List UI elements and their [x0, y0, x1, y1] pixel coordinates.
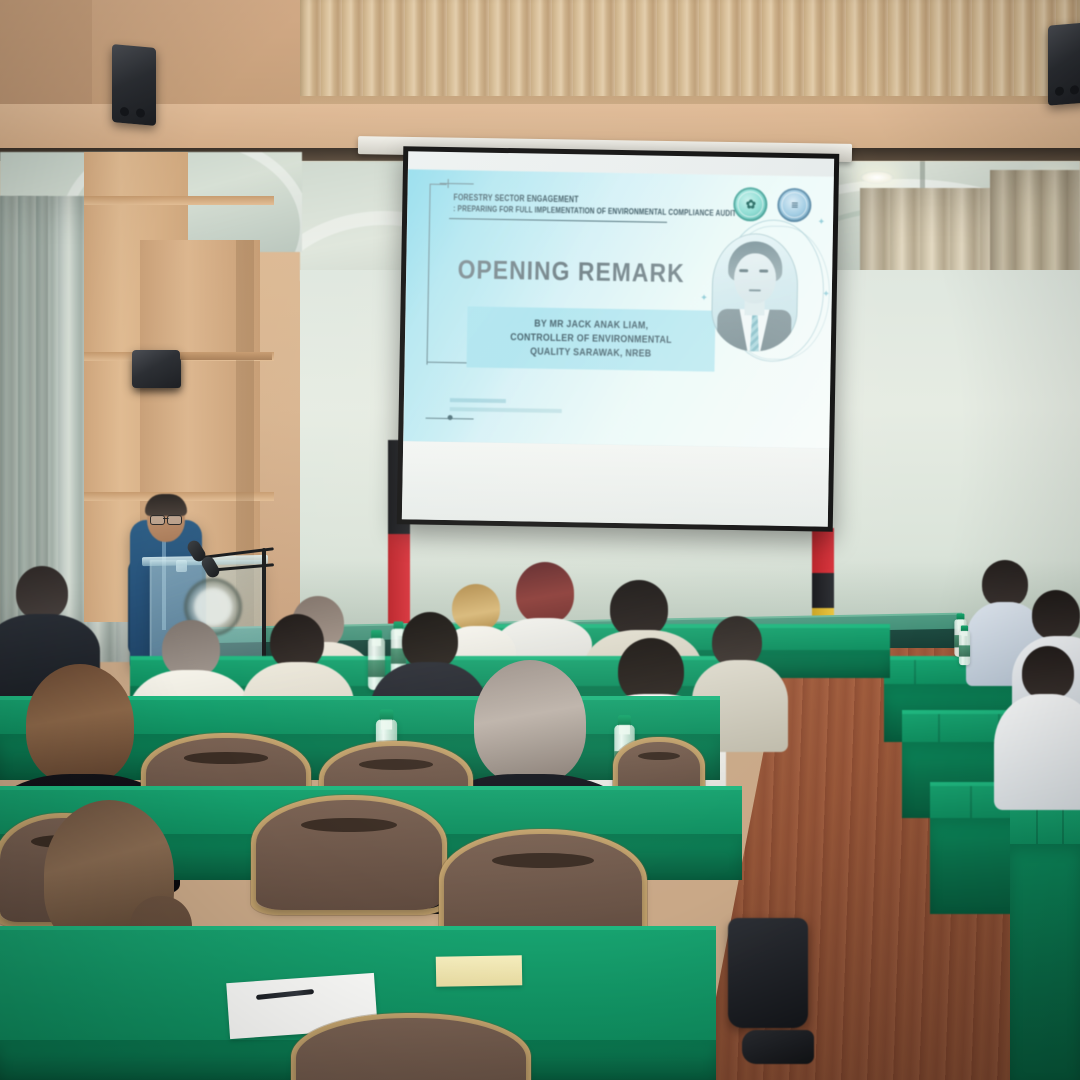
- yellow-notepad[interactable]: [436, 955, 523, 986]
- presentation-slide: FORESTRY SECTOR ENGAGEMENT : PREPARING F…: [403, 169, 834, 448]
- nreb-logo: ✿: [733, 187, 768, 222]
- pilaster-trim: [84, 196, 274, 205]
- bracket-tick-icon: [448, 179, 449, 188]
- slide-title: OPENING REMARK: [426, 254, 717, 290]
- water-bottle: [959, 631, 970, 665]
- sparkle-icon: ✦: [817, 216, 825, 227]
- black-backpack: [728, 918, 808, 1028]
- slide-header-rule: [449, 218, 667, 223]
- agency-logo: ≡: [777, 188, 812, 223]
- projection-screen[interactable]: FORESTRY SECTOR ENGAGEMENT : PREPARING F…: [397, 146, 840, 532]
- eyeglasses-icon: [150, 515, 182, 523]
- slide-header: FORESTRY SECTOR ENGAGEMENT : PREPARING F…: [453, 192, 743, 219]
- slide-subtitle-line-3: QUALITY SARAWAK, NREB: [492, 344, 690, 361]
- bracket-dot-icon: [448, 415, 453, 420]
- banquet-chair[interactable]: [256, 800, 442, 910]
- wall-speaker: [112, 44, 156, 126]
- attendee: [1002, 646, 1080, 796]
- ceiling-soffit-left-edge: [0, 0, 92, 108]
- banquet-chair[interactable]: [296, 1018, 526, 1080]
- wall-speaker: [1048, 22, 1080, 105]
- table-row: [1010, 806, 1080, 844]
- black-shoe: [742, 1030, 814, 1064]
- wall-speaker: [132, 350, 180, 388]
- presenter-hair: [145, 494, 187, 516]
- sparkle-icon: ✦: [822, 289, 830, 300]
- slide-logos: ✿ ≡: [733, 187, 812, 222]
- sparkle-icon: ✦: [700, 292, 708, 303]
- conference-hall-photo: FORESTRY SECTOR ENGAGEMENT : PREPARING F…: [0, 0, 1080, 1080]
- ceiling-downlight: [860, 171, 894, 184]
- speaker-portrait: [711, 233, 799, 352]
- slide-footer-note: [450, 398, 562, 413]
- screen-blank-area: [402, 441, 829, 526]
- slide-subtitle-band: BY MR JACK ANAK LIAM, CONTROLLER OF ENVI…: [466, 306, 715, 371]
